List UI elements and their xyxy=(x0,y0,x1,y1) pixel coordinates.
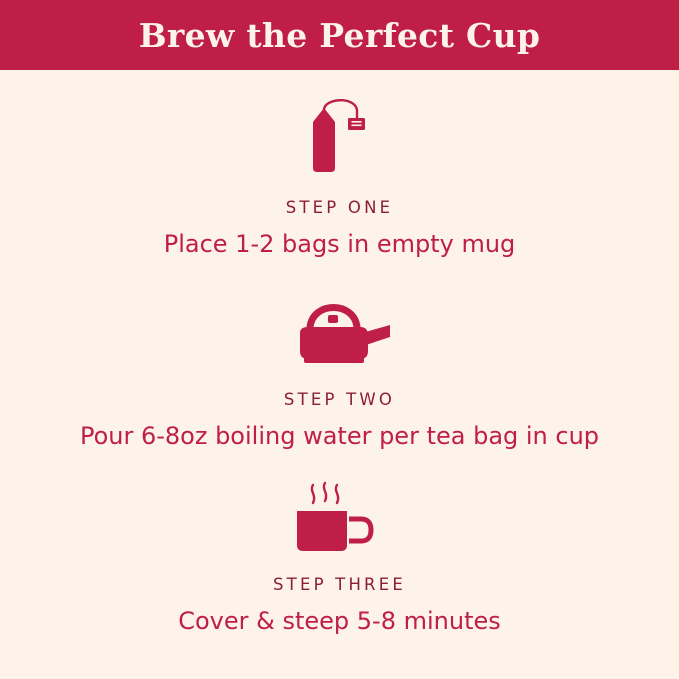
tea-bag-icon xyxy=(275,92,405,182)
infographic-page: Brew the Perfect Cup STEP ONE Place 1-2 … xyxy=(0,0,679,679)
steaming-mug-icon xyxy=(275,481,405,559)
step-description: Pour 6-8oz boiling water per tea bag in … xyxy=(80,421,599,452)
step-label: STEP THREE xyxy=(273,575,406,594)
step-item: STEP THREE Cover & steep 5-8 minutes xyxy=(0,451,679,637)
page-title: Brew the Perfect Cup xyxy=(139,19,541,52)
step-label: STEP TWO xyxy=(284,390,395,409)
step-description: Place 1-2 bags in empty mug xyxy=(164,229,516,260)
step-item: STEP TWO Pour 6-8oz boiling water per te… xyxy=(0,260,679,452)
header-band: Brew the Perfect Cup xyxy=(0,0,679,70)
step-label: STEP ONE xyxy=(286,198,394,217)
step-description: Cover & steep 5-8 minutes xyxy=(178,606,501,637)
step-item: STEP ONE Place 1-2 bags in empty mug xyxy=(0,70,679,260)
kettle-icon xyxy=(270,293,410,373)
steps-list: STEP ONE Place 1-2 bags in empty mug xyxy=(0,70,679,637)
